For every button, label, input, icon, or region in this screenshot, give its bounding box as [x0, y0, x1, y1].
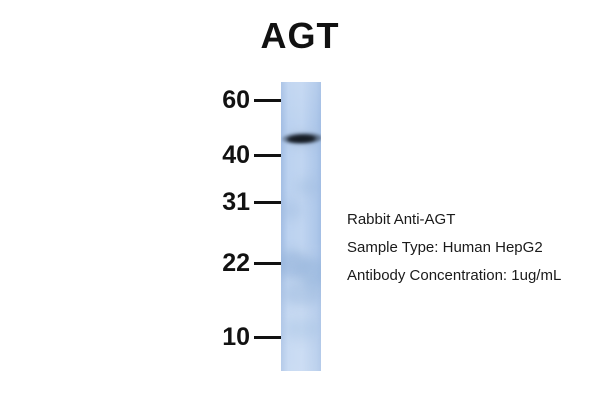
ladder-marker-label: 40: [206, 143, 250, 168]
ladder-tick-icon: [254, 99, 282, 102]
lane-background-smudge: [295, 178, 319, 196]
annotation-antibody: Rabbit Anti-AGT: [347, 206, 595, 234]
ladder-marker-label: 22: [206, 251, 250, 276]
ladder-tick-icon: [254, 201, 282, 204]
ladder-tick-icon: [254, 336, 282, 339]
ladder-marker-label: 10: [206, 325, 250, 350]
ladder-marker-label: 60: [206, 88, 250, 113]
annotation-antibody-concentration: Antibody Concentration: 1ug/mL: [347, 262, 595, 290]
ladder-tick-icon: [254, 154, 282, 157]
lane-background-smudge: [285, 318, 319, 340]
page-title: AGT: [0, 16, 600, 56]
lane-background-smudge: [283, 282, 321, 306]
gel-lane: [281, 82, 321, 371]
ladder-tick-icon: [254, 262, 282, 265]
western-blot-figure: AGT 60 40 31 22 10: [0, 0, 600, 400]
ladder-marker-label: 31: [206, 190, 250, 215]
annotation-block: Rabbit Anti-AGT Sample Type: Human HepG2…: [347, 206, 595, 290]
annotation-sample-type: Sample Type: Human HepG2: [347, 234, 595, 262]
